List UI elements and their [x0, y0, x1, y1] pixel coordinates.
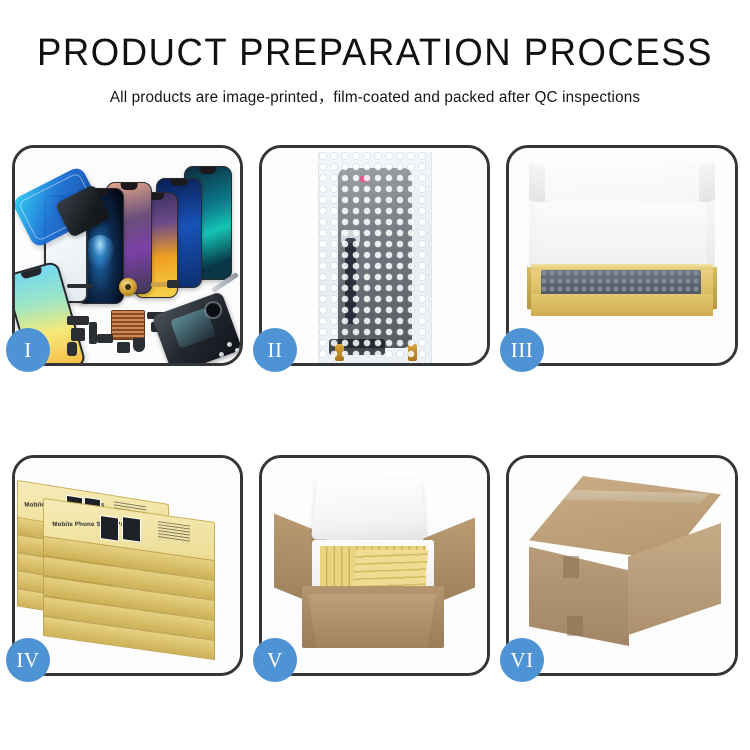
pink-sticker-icon	[360, 176, 369, 182]
step-badge-6: VI	[500, 638, 544, 682]
step-panel-6: VI	[506, 455, 738, 676]
foam-lid-open-icon	[311, 479, 427, 539]
step-badge-3: III	[500, 328, 544, 372]
lid-flap-right	[699, 162, 715, 203]
box-stack: Mobile Phone Spare Parts Mobile Phone Sp…	[15, 458, 240, 673]
step-3-image	[509, 148, 735, 363]
step-2-image	[262, 148, 487, 363]
step-panel-4: Mobile Phone Spare Parts Mobile Phone Sp…	[12, 455, 243, 676]
step-badge-2: II	[253, 328, 297, 372]
step-panel-1: I	[12, 145, 243, 366]
bubble-wrap-bag	[318, 152, 432, 363]
step-badge-5: V	[253, 638, 297, 682]
spare-parts-cluster	[67, 276, 240, 363]
connector-grid-icon	[111, 310, 145, 340]
box-front-panel	[531, 294, 713, 316]
lid-flap-left	[529, 162, 545, 203]
vibration-coil-icon	[119, 278, 137, 296]
step-panel-3: III	[506, 145, 738, 366]
step-6-image	[509, 458, 735, 673]
process-steps-grid: I II	[12, 145, 738, 676]
step-1-image	[15, 148, 240, 363]
page-title: PRODUCT PREPARATION PROCESS	[15, 34, 735, 74]
step-5-image	[262, 458, 487, 673]
page-header: PRODUCT PREPARATION PROCESS All products…	[0, 0, 750, 107]
gold-contact-left-icon	[335, 344, 344, 361]
box-rim	[531, 264, 713, 270]
step-panel-5: V	[259, 455, 490, 676]
flex-cable-icon	[345, 238, 356, 324]
gold-contact-right-icon	[408, 344, 417, 361]
page-subtitle: All products are image-printed，film-coat…	[6, 85, 745, 107]
step-badge-1: I	[6, 328, 50, 372]
phone-chassis-large-icon	[152, 291, 240, 363]
step-panel-2: II	[259, 145, 490, 366]
carton-front-panel	[308, 594, 436, 648]
tweezers-icon	[211, 272, 239, 293]
step-badge-4: IV	[6, 638, 50, 682]
wallpaper-graphic	[85, 235, 115, 269]
step-4-image: Mobile Phone Spare Parts Mobile Phone Sp…	[15, 458, 240, 673]
sealed-carton-icon	[529, 476, 721, 646]
